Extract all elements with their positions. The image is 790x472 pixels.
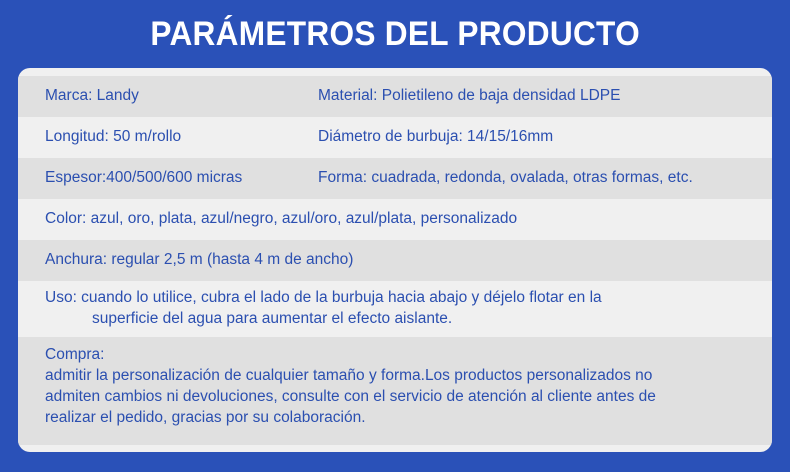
cell-marca: Marca: Landy <box>30 86 316 107</box>
compra-heading: Compra: <box>45 345 760 366</box>
compra-line-3: realizar el pedido, gracias por su colab… <box>45 408 760 429</box>
compra-body: admitir la personalización de cualquier … <box>45 366 760 429</box>
cell-diametro: Diámetro de burbuja: 14/15/16mm <box>316 127 760 148</box>
cell-longitud: Longitud: 50 m/rollo <box>30 127 316 148</box>
table-row-marca: Marca: Landy Material: Polietileno de ba… <box>18 76 772 117</box>
cell-forma: Forma: cuadrada, redonda, ovalada, otras… <box>316 168 760 189</box>
specification-card: Marca: Landy Material: Polietileno de ba… <box>18 68 772 452</box>
table-row-espesor: Espesor:400/500/600 micras Forma: cuadra… <box>18 158 772 199</box>
uso-line-2: superficie del agua para aumentar el efe… <box>45 309 760 330</box>
table-row-compra: Compra: admitir la personalización de cu… <box>18 337 772 445</box>
table-row-anchura: Anchura: regular 2,5 m (hasta 4 m de anc… <box>18 240 772 281</box>
cell-compra: Compra: admitir la personalización de cu… <box>30 345 760 429</box>
page-title: PARÁMETROS DEL PRODUCTO <box>150 17 640 51</box>
cell-material: Material: Polietileno de baja densidad L… <box>316 86 760 107</box>
cell-uso: Uso: cuando lo utilice, cubra el lado de… <box>30 288 760 330</box>
cell-espesor: Espesor:400/500/600 micras <box>30 168 316 189</box>
compra-line-1: admitir la personalización de cualquier … <box>45 366 760 387</box>
uso-line-1: Uso: cuando lo utilice, cubra el lado de… <box>45 288 760 309</box>
compra-line-2: admiten cambios ni devoluciones, consult… <box>45 387 760 408</box>
cell-color: Color: azul, oro, plata, azul/negro, azu… <box>30 209 760 230</box>
table-row-color: Color: azul, oro, plata, azul/negro, azu… <box>18 199 772 240</box>
table-row-uso: Uso: cuando lo utilice, cubra el lado de… <box>18 281 772 337</box>
title-bar: PARÁMETROS DEL PRODUCTO <box>0 0 790 68</box>
cell-anchura: Anchura: regular 2,5 m (hasta 4 m de anc… <box>30 250 760 271</box>
table-row-longitud: Longitud: 50 m/rollo Diámetro de burbuja… <box>18 117 772 158</box>
